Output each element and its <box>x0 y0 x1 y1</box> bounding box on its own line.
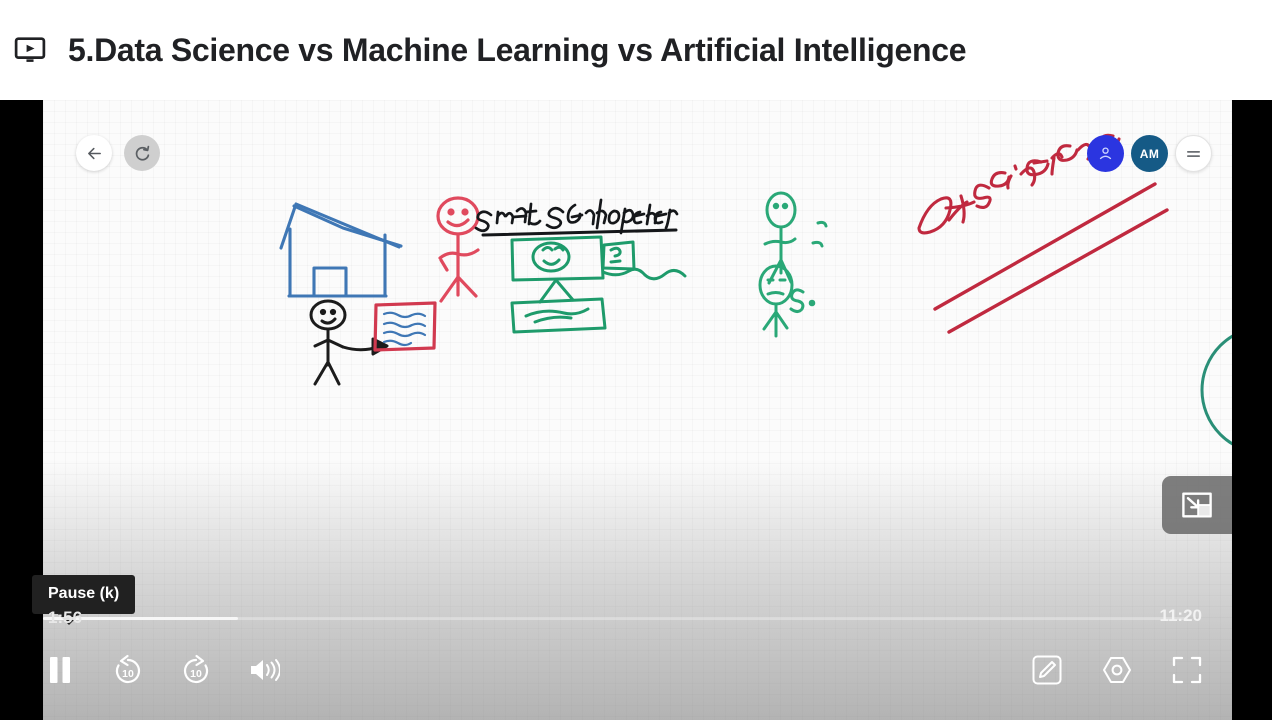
svg-text:10: 10 <box>122 668 134 680</box>
page-title: 5.Data Science vs Machine Learning vs Ar… <box>68 32 966 69</box>
progress-bar[interactable] <box>43 617 1188 620</box>
hamburger-menu-icon <box>1185 148 1202 160</box>
avatar-person-icon[interactable] <box>1087 135 1124 172</box>
volume-button[interactable] <box>244 650 284 690</box>
green-marks <box>791 222 826 311</box>
person-icon <box>1097 145 1114 162</box>
current-time-label: 1:56 <box>48 608 82 628</box>
duration-label: 11:20 <box>1159 606 1202 626</box>
circle-sketch <box>1202 327 1232 453</box>
pause-icon <box>47 655 73 685</box>
settings-button[interactable] <box>1097 650 1137 690</box>
smart-shopkeeper-handwriting <box>476 200 677 235</box>
store-sketch <box>512 237 685 332</box>
video-screen-play-icon <box>12 32 48 68</box>
back-arrow-icon <box>86 145 103 162</box>
rewind-10-button[interactable]: 10 <box>108 650 148 690</box>
svg-text:10: 10 <box>190 668 202 680</box>
volume-high-icon <box>248 656 280 684</box>
forward-10-icon: 10 <box>180 654 212 686</box>
annotate-button[interactable] <box>1027 650 1067 690</box>
pause-button[interactable] <box>40 650 80 690</box>
pencil-edit-icon <box>1031 654 1063 686</box>
controls-left-group: 10 10 <box>40 650 284 690</box>
page-header: 5.Data Science vs Machine Learning vs Ar… <box>0 0 1272 100</box>
back-button[interactable] <box>76 135 112 171</box>
player-controls-bar: 1:56 11:20 10 10 <box>0 600 1232 720</box>
fullscreen-button[interactable] <box>1167 650 1207 690</box>
picture-in-picture-button[interactable] <box>1162 476 1232 534</box>
document-sketch <box>375 303 435 350</box>
controls-right-group <box>1027 650 1207 690</box>
avatar-initials[interactable]: AM <box>1131 135 1168 172</box>
rewind-10-icon: 10 <box>112 654 144 686</box>
forward-10-button[interactable]: 10 <box>176 650 216 690</box>
video-player[interactable]: AM Pause (k) 1:56 11:20 <box>0 100 1272 720</box>
house-sketch <box>281 204 401 296</box>
hamburger-menu-button[interactable] <box>1175 135 1212 172</box>
reset-button[interactable] <box>124 135 160 171</box>
picture-in-picture-icon <box>1180 490 1214 520</box>
hexagon-settings-icon <box>1100 654 1134 686</box>
shopkeeper-stick-figure <box>438 198 478 301</box>
whiteboard-users: AM <box>1087 135 1212 172</box>
reset-refresh-icon <box>133 144 151 162</box>
customer-happy-stick-figure <box>765 193 795 283</box>
fullscreen-icon <box>1171 655 1203 685</box>
